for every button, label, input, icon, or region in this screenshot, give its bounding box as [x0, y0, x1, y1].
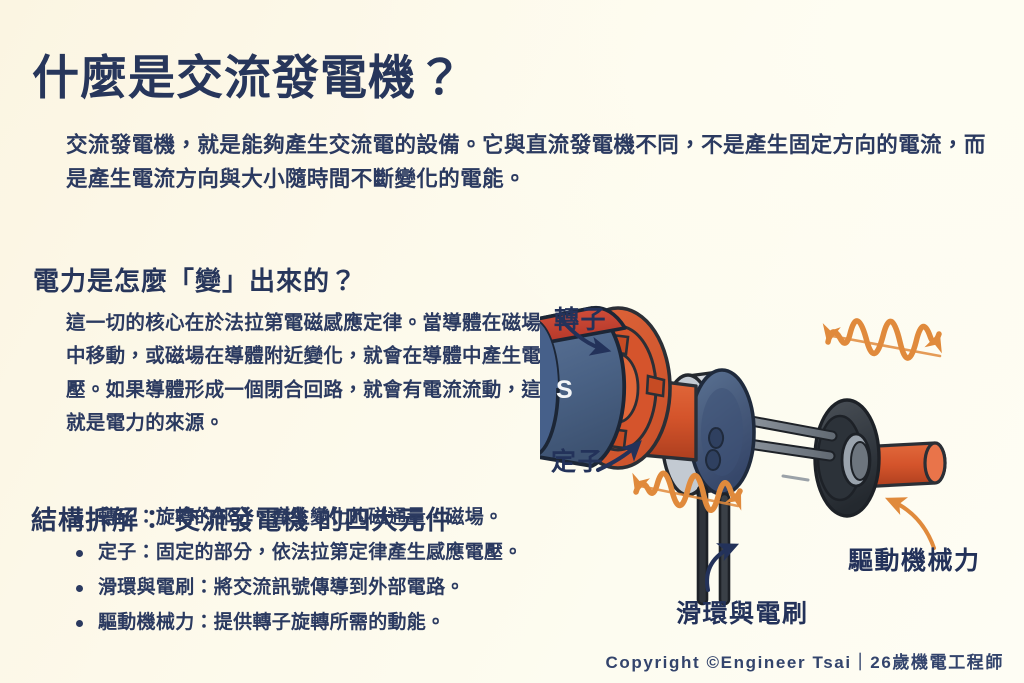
- section-heading-how-power-is-made: 電力是怎麼「變」出來的？: [33, 261, 357, 298]
- infographic-poster: 什麼是交流發電機？ 交流發電機，就是能夠產生交流電的設備。它與直流發電機不同，不…: [0, 0, 1024, 683]
- diagram-label-drive-force: 驅動機械力: [848, 541, 981, 577]
- pulley-wheel: [815, 400, 879, 516]
- stator-assembly: [662, 370, 754, 495]
- copyright-notice: Copyright ©Engineer Tsai｜26歲機電工程師: [606, 648, 1004, 673]
- diagram-label-slip-ring-brush: 滑環與電刷: [676, 594, 809, 630]
- diagram-label-stator: 定子: [551, 442, 604, 478]
- brush-bars: [698, 486, 729, 604]
- drive-shaft-orange: [858, 443, 945, 487]
- ac-waveform-upper: [828, 321, 940, 358]
- section-body-faraday-law: 這一切的核心在於法拉第電磁感應定律。當導體在磁場中移動，或磁場在導體附近變化，就…: [66, 307, 546, 441]
- slip-ring-leads: [742, 420, 832, 480]
- list-item: 定子：固定的部分，依法拉第定律產生感應電壓。: [98, 543, 628, 562]
- diagram-label-rotor: 轉子: [554, 300, 607, 336]
- list-item: 滑環與電刷：將交流訊號傳導到外部電路。: [98, 578, 628, 597]
- slip-ring-pointer-arrow: [707, 546, 734, 590]
- component-list: 轉子：旋轉的部分，產生變化的磁通量、磁場。 定子：固定的部分，依法拉第定律產生感…: [62, 508, 628, 648]
- intro-paragraph: 交流發電機，就是能夠產生交流電的設備。它與直流發電機不同，不是產生固定方向的電流…: [66, 128, 991, 198]
- list-item: 驅動機械力：提供轉子旋轉所需的動能。: [98, 613, 628, 632]
- page-title: 什麼是交流發電機？: [32, 51, 464, 105]
- list-item: 轉子：旋轉的部分，產生變化的磁通量、磁場。: [98, 508, 628, 527]
- ac-waveform-lower: [636, 473, 740, 510]
- text-column: 什麼是交流發電機？ 交流發電機，就是能夠產生交流電的設備。它與直流發電機不同，不…: [0, 0, 620, 683]
